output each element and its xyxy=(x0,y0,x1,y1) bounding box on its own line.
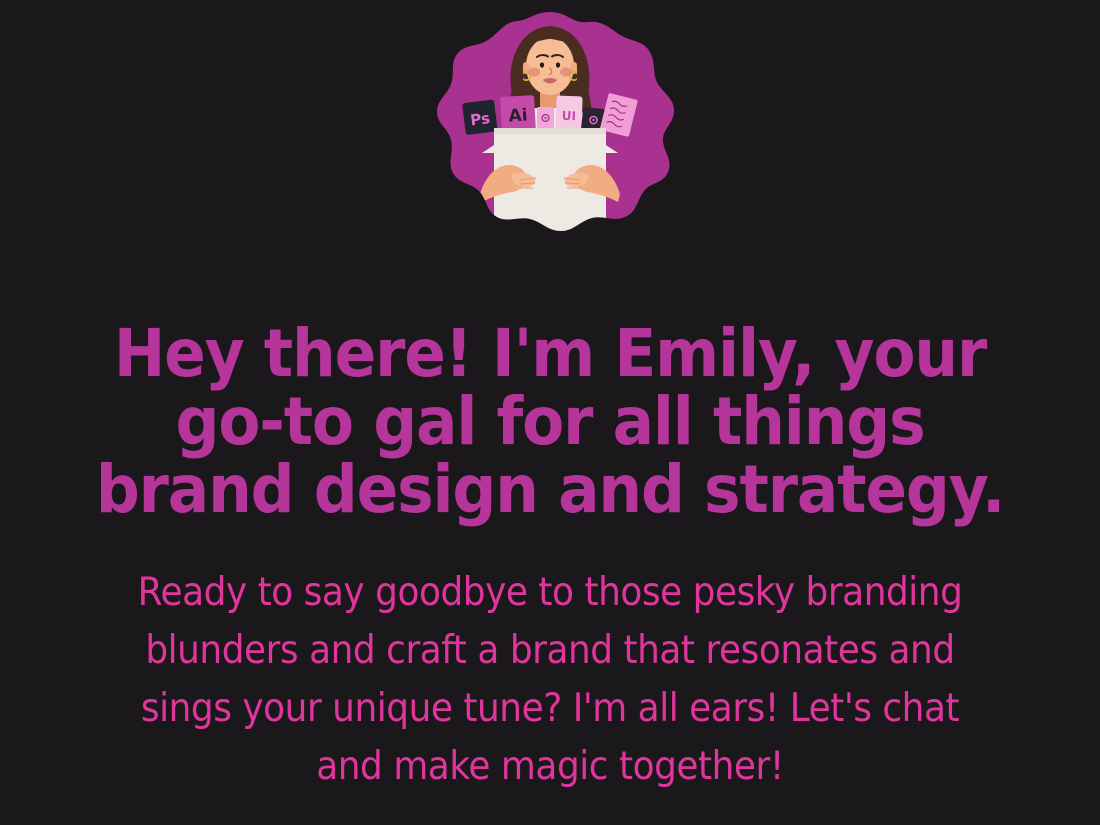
subcopy-line-4: and make magic together! xyxy=(136,738,964,796)
subcopy-line-3: sings your unique tune? I'm all ears! Le… xyxy=(136,680,964,738)
page-headline: Hey there! I'm Emily, your go-to gal for… xyxy=(85,320,1015,524)
subcopy-line-1: Ready to say goodbye to those pesky bran… xyxy=(136,564,964,622)
badge-illustration-svg: Ps Ai UI xyxy=(420,8,680,258)
page-subcopy: Ready to say goodbye to those pesky bran… xyxy=(136,564,964,796)
headline-line-2: go-to gal for all things xyxy=(85,388,1015,456)
headline-line-3: brand design and strategy. xyxy=(85,456,1015,524)
photoshop-card: Ps xyxy=(462,99,498,135)
subcopy-line-2: blunders and craft a brand that resonate… xyxy=(136,622,964,680)
svg-text:Ps: Ps xyxy=(469,109,491,129)
svg-text:Ai: Ai xyxy=(508,106,528,127)
illustrator-card: Ai xyxy=(500,95,536,133)
svg-text:UI: UI xyxy=(562,109,577,123)
hero-illustration: Ps Ai UI xyxy=(420,8,680,258)
ui-card: UI xyxy=(555,96,582,134)
headline-line-1: Hey there! I'm Emily, your xyxy=(85,320,1015,388)
